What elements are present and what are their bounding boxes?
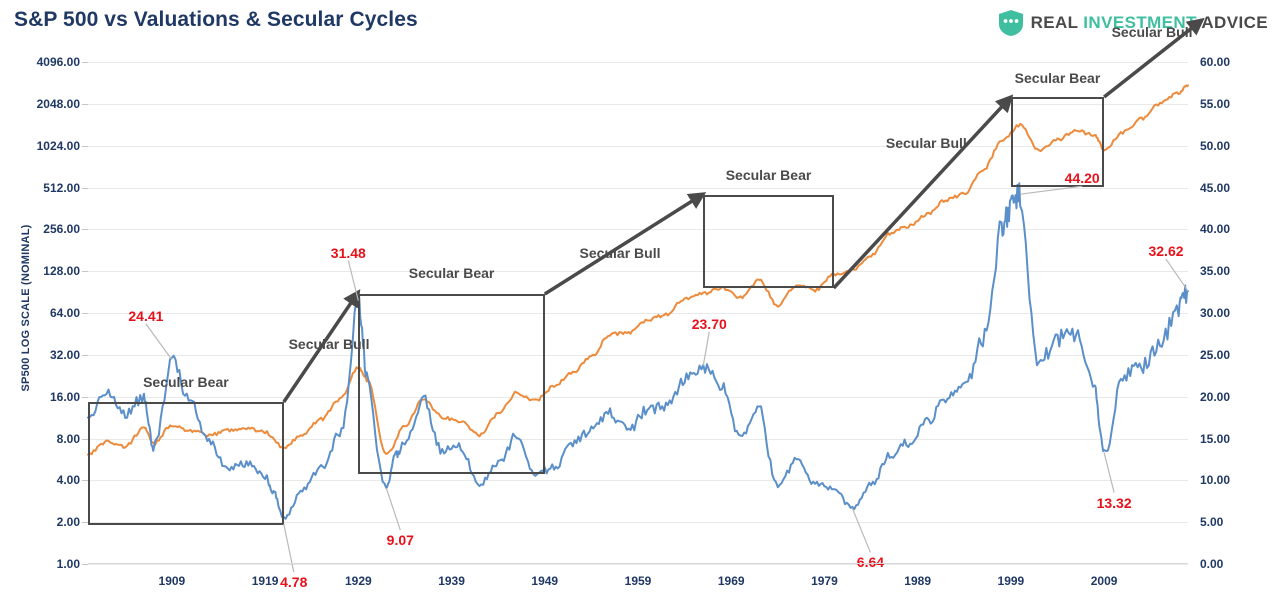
right-axis-tick-label: 10.00 bbox=[1200, 473, 1270, 487]
x-axis-tick-label: 1949 bbox=[510, 574, 580, 588]
cape-value-annotation: 32.62 bbox=[1148, 243, 1183, 259]
x-axis-tick-label: 1989 bbox=[883, 574, 953, 588]
x-axis-tick-label: 1969 bbox=[696, 574, 766, 588]
cape-value-annotation: 13.32 bbox=[1097, 495, 1132, 511]
cape-value-annotation: 23.70 bbox=[692, 316, 727, 332]
left-axis-tick-label: 1.00 bbox=[6, 557, 80, 571]
cape-value-annotation: 24.41 bbox=[128, 308, 163, 324]
right-axis-tick-label: 15.00 bbox=[1200, 432, 1270, 446]
cape-value-annotation: 31.48 bbox=[331, 245, 366, 261]
brand-word-advice: ADVICE bbox=[1201, 13, 1268, 32]
annotation-leader-line bbox=[1104, 453, 1114, 493]
right-axis-tick-label: 0.00 bbox=[1200, 557, 1270, 571]
left-axis-tick-label: 256.00 bbox=[6, 222, 80, 236]
secular-bull-label: Secular Bull bbox=[1112, 24, 1193, 40]
brand-word-real: REAL bbox=[1031, 13, 1079, 32]
x-axis-baseline bbox=[88, 563, 1188, 564]
annotation-leader-line bbox=[852, 508, 870, 552]
left-axis-tick-label: 4096.00 bbox=[6, 55, 80, 69]
right-axis-tick-label: 40.00 bbox=[1200, 222, 1270, 236]
right-axis-tick-label: 45.00 bbox=[1200, 181, 1270, 195]
x-axis-tick-label: 2009 bbox=[1069, 574, 1139, 588]
left-axis-tick-label: 128.00 bbox=[6, 264, 80, 278]
left-axis-tick-label: 4.00 bbox=[6, 473, 80, 487]
annotation-leader-line bbox=[1020, 186, 1082, 194]
left-axis-tick-label: 2.00 bbox=[6, 515, 80, 529]
left-axis-tick-label: 2048.00 bbox=[6, 97, 80, 111]
left-axis-tick-label: 1024.00 bbox=[6, 139, 80, 153]
left-axis-tick-label: 8.00 bbox=[6, 432, 80, 446]
right-axis-tick-label: 5.00 bbox=[1200, 515, 1270, 529]
annotation-leader-line bbox=[1166, 259, 1188, 291]
x-axis-tick-label: 1999 bbox=[976, 574, 1046, 588]
gridline bbox=[88, 564, 1188, 565]
left-axis-tick-mark bbox=[82, 564, 88, 565]
x-axis-tick-label: 1959 bbox=[603, 574, 673, 588]
x-axis-tick-label: 1929 bbox=[323, 574, 393, 588]
chart-page: S&P 500 vs Valuations & Secular Cycles R… bbox=[0, 0, 1280, 616]
annotation-leaders bbox=[88, 62, 1188, 564]
annotation-leader-line bbox=[703, 332, 709, 366]
annotation-leader-line bbox=[146, 324, 172, 360]
left-axis-tick-label: 512.00 bbox=[6, 181, 80, 195]
x-axis-tick-label: 1909 bbox=[137, 574, 207, 588]
plot-area: 1.002.004.008.0016.0032.0064.00128.00256… bbox=[88, 62, 1188, 564]
cape-value-annotation: 44.20 bbox=[1065, 170, 1100, 186]
right-axis-tick-label: 50.00 bbox=[1200, 139, 1270, 153]
shield-dots-icon bbox=[999, 10, 1023, 36]
x-axis-tick-label: 1939 bbox=[417, 574, 487, 588]
right-axis-tick-label: 60.00 bbox=[1200, 55, 1270, 69]
right-axis-tick-label: 55.00 bbox=[1200, 97, 1270, 111]
annotation-leader-line bbox=[386, 488, 400, 530]
left-axis-tick-label: 16.00 bbox=[6, 390, 80, 404]
right-axis-tick-label: 25.00 bbox=[1200, 348, 1270, 362]
cape-value-annotation: 4.78 bbox=[280, 574, 307, 590]
annotation-leader-line bbox=[348, 261, 358, 301]
left-axis-tick-label: 64.00 bbox=[6, 306, 80, 320]
x-axis-tick-label: 1979 bbox=[789, 574, 859, 588]
cape-value-annotation: 9.07 bbox=[387, 532, 414, 548]
right-axis-tick-label: 35.00 bbox=[1200, 264, 1270, 278]
right-axis-tick-label: 30.00 bbox=[1200, 306, 1270, 320]
right-axis-tick-label: 20.00 bbox=[1200, 390, 1270, 404]
page-title: S&P 500 vs Valuations & Secular Cycles bbox=[14, 8, 418, 32]
left-axis-tick-label: 32.00 bbox=[6, 348, 80, 362]
